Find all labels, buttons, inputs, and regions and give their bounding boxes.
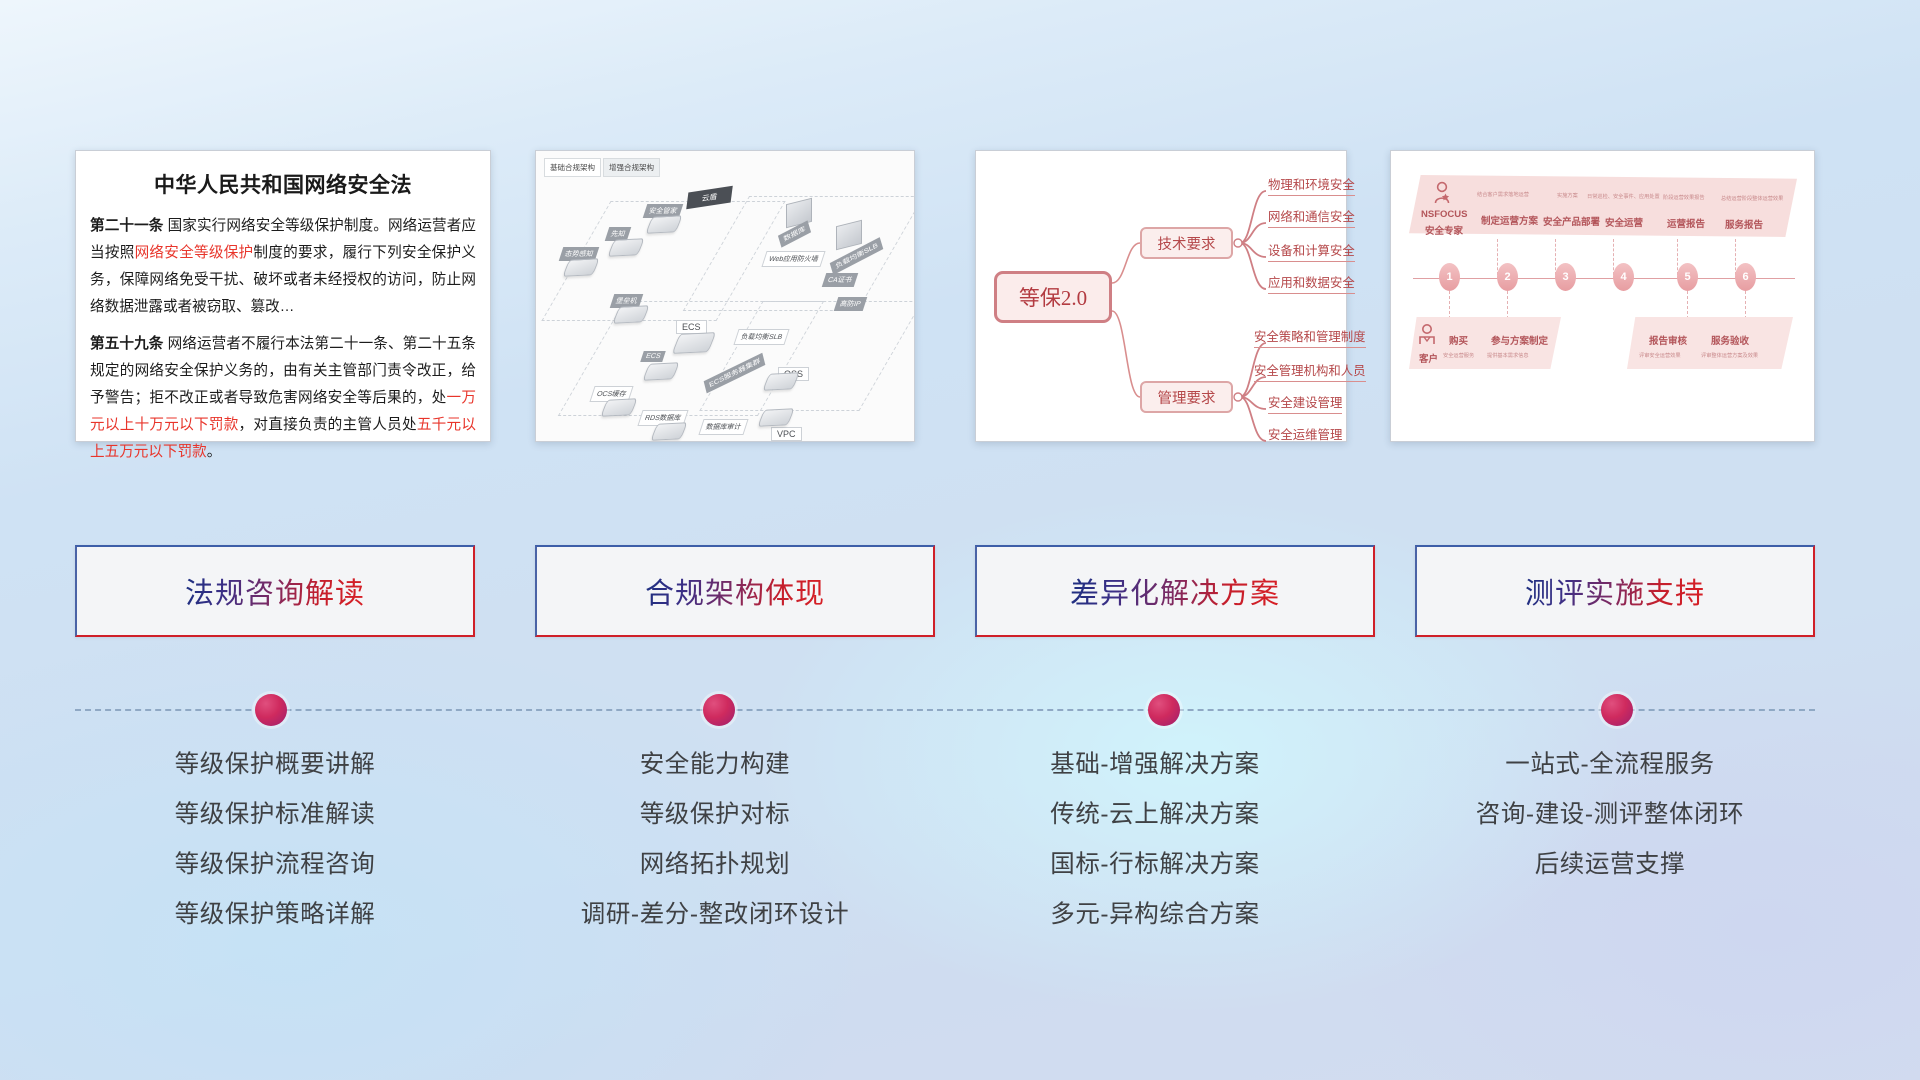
arch-node-ecs: ECS [676,333,712,353]
list-item: 后续运营支撑 [1395,840,1825,890]
arch-node-anti-ddos-ip: 高防IP [834,297,867,311]
timeline-line [75,709,1815,711]
roadmap-step-6[interactable]: 6 [1735,263,1756,291]
list-item: 等级保护概要讲解 [60,740,490,790]
roadmap-top-main: 运营报告 [1667,216,1705,230]
pillar-detail-lists: 等级保护概要讲解 等级保护标准解读 等级保护流程咨询 等级保护策略详解 安全能力… [0,740,1920,960]
law-article-label: 第五十九条 [90,336,163,352]
roadmap-connector [1745,291,1746,319]
roadmap-step-2[interactable]: 2 [1497,263,1518,291]
list-item: 咨询-建设-测评整体闭环 [1395,790,1825,840]
roadmap-step-5[interactable]: 5 [1677,263,1698,291]
architecture-tabs[interactable]: 基础合规架构 增强合规架构 [544,158,660,177]
arch-node-label: ECS [640,351,666,362]
list-item: 等级保护策略详解 [60,890,490,940]
mindmap-card[interactable]: 等保2.0 技术要求 管理要求 物理和环境安全 网络和通信安全 设备和计算安全 … [975,150,1347,442]
law-article: 第二十一条 国家实行网络安全等级保护制度。网络运营者应当按照网络安全等级保护制度… [90,213,476,322]
roadmap-step-1[interactable]: 1 [1439,263,1460,291]
roadmap-bottom-main: 报告审核 [1649,333,1687,347]
pillar-detail-list-2: 安全能力构建 等级保护对标 网络拓扑规划 调研-差分-整改闭环设计 [500,740,930,940]
roadmap-top-sub: 日常巡检、安全事件、应用处置 [1587,193,1660,200]
timeline-dot-4[interactable] [1601,694,1633,726]
roadmap-bottom-main: 购买 [1449,333,1468,347]
list-item: 等级保护标准解读 [60,790,490,840]
arch-node-bastion-host: 堡垒机 [616,306,646,323]
roadmap-connector [1449,291,1450,319]
roadmap-step-3[interactable]: 3 [1555,263,1576,291]
list-item: 网络拓扑规划 [500,840,930,890]
mindmap-root-node[interactable]: 等保2.0 [994,271,1112,323]
thumbnail-card-row: 中华人民共和国网络安全法 第二十一条 国家实行网络安全等级保护制度。网络运营者应… [0,150,1920,450]
mindmap-leaf[interactable]: 设备和计算安全 [1268,241,1355,262]
roadmap-top-main: 安全产品部署 [1543,214,1600,228]
arch-node-web-application-firewall: Web应用防火墙 [761,251,825,267]
pillar-title-label: 差异化解决方案 [1070,570,1280,612]
roadmap-top-sub: 阶段运营效果报告 [1663,194,1705,201]
arch-node-database: 数据库 [786,201,812,225]
law-article-highlight: 网络安全等级保护 [135,245,254,261]
timeline-dot-3[interactable] [1148,694,1180,726]
list-item: 等级保护对标 [500,790,930,840]
roadmap-top-main: 服务报告 [1725,217,1763,231]
roadmap-bottom-sub: 评审安全运营效果 [1639,352,1681,359]
mindmap-leaf[interactable]: 安全策略和管理制度 [1254,327,1366,348]
mindmap-branch-technical[interactable]: 技术要求 [1140,227,1233,259]
pillar-detail-list-1: 等级保护概要讲解 等级保护标准解读 等级保护流程咨询 等级保护策略详解 [60,740,490,940]
law-title: 中华人民共和国网络安全法 [76,169,490,199]
roadmap-bottom-main: 服务验收 [1711,333,1749,347]
pillar-title-box-4[interactable]: 测评实施支持 [1415,545,1815,637]
pillar-title-label: 测评实施支持 [1525,570,1705,612]
mindmap-leaf[interactable]: 网络和通信安全 [1268,207,1355,228]
roadmap-connector [1507,291,1508,319]
timeline-dot-2[interactable] [703,694,735,726]
roadmap-bottom-sub: 提供基本需求信息 [1487,352,1529,359]
mindmap-leaf[interactable]: 安全运维管理 [1268,425,1342,445]
law-article-text: 。 [207,444,222,460]
list-item: 等级保护流程咨询 [60,840,490,890]
mindmap-branch-management[interactable]: 管理要求 [1140,381,1233,413]
arch-node-vpc: VPC [761,409,791,426]
customer-icon [1415,323,1439,352]
timeline [0,690,1920,730]
mindmap-leaf[interactable]: 应用和数据安全 [1268,273,1355,294]
service-roadmap-card[interactable]: NSFOCUS 安全专家 结合客户需求落地运营 制定运营方案 实施方案 安全产品… [1390,150,1815,442]
pillar-title-box-2[interactable]: 合规架构体现 [535,545,935,637]
roadmap-top-sub: 总结运营阶段整体运营效果 [1721,195,1783,202]
roadmap-top-sub: 实施方案 [1557,192,1578,199]
list-item: 一站式-全流程服务 [1395,740,1825,790]
slide-canvas: 中华人民共和国网络安全法 第二十一条 国家实行网络安全等级保护制度。网络运营者应… [0,0,1920,1080]
roadmap-top-main: 制定运营方案 [1481,213,1538,227]
law-article: 第五十九条 网络运营者不履行本法第二十一条、第二十五条规定的网络安全保护义务的，… [90,331,476,467]
law-article-label: 第二十一条 [90,218,163,234]
security-expert-icon [1429,181,1455,212]
pillar-title-label: 法规咨询解读 [185,570,365,612]
mindmap-leaf[interactable]: 安全管理机构和人员 [1254,361,1366,382]
arch-node-security-knight: ECS [646,363,676,380]
timeline-dot-1[interactable] [255,694,287,726]
mindmap: 等保2.0 技术要求 管理要求 物理和环境安全 网络和通信安全 设备和计算安全 … [976,151,1346,441]
arch-node-ca-certificate: CA证书 [822,273,858,287]
law-article-text: ，对直接负责的主管人员处 [239,417,417,433]
law-body: 第二十一条 国家实行网络安全等级保护制度。网络运营者应当按照网络安全等级保护制度… [76,213,490,466]
service-roadmap: NSFOCUS 安全专家 结合客户需求落地运营 制定运营方案 实施方案 安全产品… [1391,151,1814,441]
list-item: 安全能力构建 [500,740,930,790]
pillar-title-box-1[interactable]: 法规咨询解读 [75,545,475,637]
roadmap-top-main: 安全运营 [1605,215,1643,229]
architecture-diagram-card[interactable]: 基础合规架构 增强合规架构 云盾 态势感知 先知 [535,150,915,442]
tab-enhanced-architecture[interactable]: 增强合规架构 [603,158,660,177]
roadmap-bottom-sub: 安全运营服务 [1443,352,1474,359]
law-excerpt-card[interactable]: 中华人民共和国网络安全法 第二十一条 国家实行网络安全等级保护制度。网络运营者应… [75,150,491,442]
arch-node-pc-terminal: 负载均衡SLB [836,223,862,247]
roadmap-bottom-sub: 评审整体运营方案及效果 [1701,352,1758,359]
list-item: 基础-增强解决方案 [940,740,1370,790]
arch-node-rds-database: RDS数据库 [654,423,684,440]
pillar-detail-list-4: 一站式-全流程服务 咨询-建设-测评整体闭环 后续运营支撑 [1395,740,1825,890]
arch-node-situational-awareness: 态势感知 [566,259,596,276]
tab-basic-architecture[interactable]: 基础合规架构 [544,158,601,177]
list-item: 调研-差分-整改闭环设计 [500,890,930,940]
mindmap-leaf[interactable]: 安全建设管理 [1268,393,1342,414]
roadmap-provider-line1: NSFOCUS [1421,209,1467,220]
arch-node-foresight: 先知 [611,239,641,256]
roadmap-provider-line2: 安全专家 [1425,223,1463,237]
arch-node-ocs-cache: OCS缓存 [604,399,634,416]
pillar-title-label: 合规架构体现 [645,570,825,612]
pillar-detail-list-3: 基础-增强解决方案 传统-云上解决方案 国标-行标解决方案 多元-异构综合方案 [940,740,1370,940]
pillar-title-row: 法规咨询解读 合规架构体现 差异化解决方案 测评实施支持 [0,545,1920,645]
roadmap-bottom-main: 参与方案制定 [1491,333,1548,347]
arch-node-database-audit: 数据库审计 [698,419,748,435]
list-item: 国标-行标解决方案 [940,840,1370,890]
pillar-title-box-3[interactable]: 差异化解决方案 [975,545,1375,637]
roadmap-top-sub: 结合客户需求落地运营 [1477,191,1529,198]
list-item: 多元-异构综合方案 [940,890,1370,940]
architecture-diagram: 基础合规架构 增强合规架构 云盾 态势感知 先知 [536,151,914,441]
roadmap-step-4[interactable]: 4 [1613,263,1634,291]
mindmap-leaf[interactable]: 物理和环境安全 [1268,175,1355,196]
list-item: 传统-云上解决方案 [940,790,1370,840]
arch-node-slb: 负载均衡SLB [733,329,789,345]
roadmap-connector [1687,291,1688,319]
roadmap-customer-label: 客户 [1419,351,1438,365]
arch-node-label: VPC [771,427,802,441]
arch-node-oss: OSS [766,373,796,390]
arch-node-security-butler: 安全管家 [649,216,679,233]
